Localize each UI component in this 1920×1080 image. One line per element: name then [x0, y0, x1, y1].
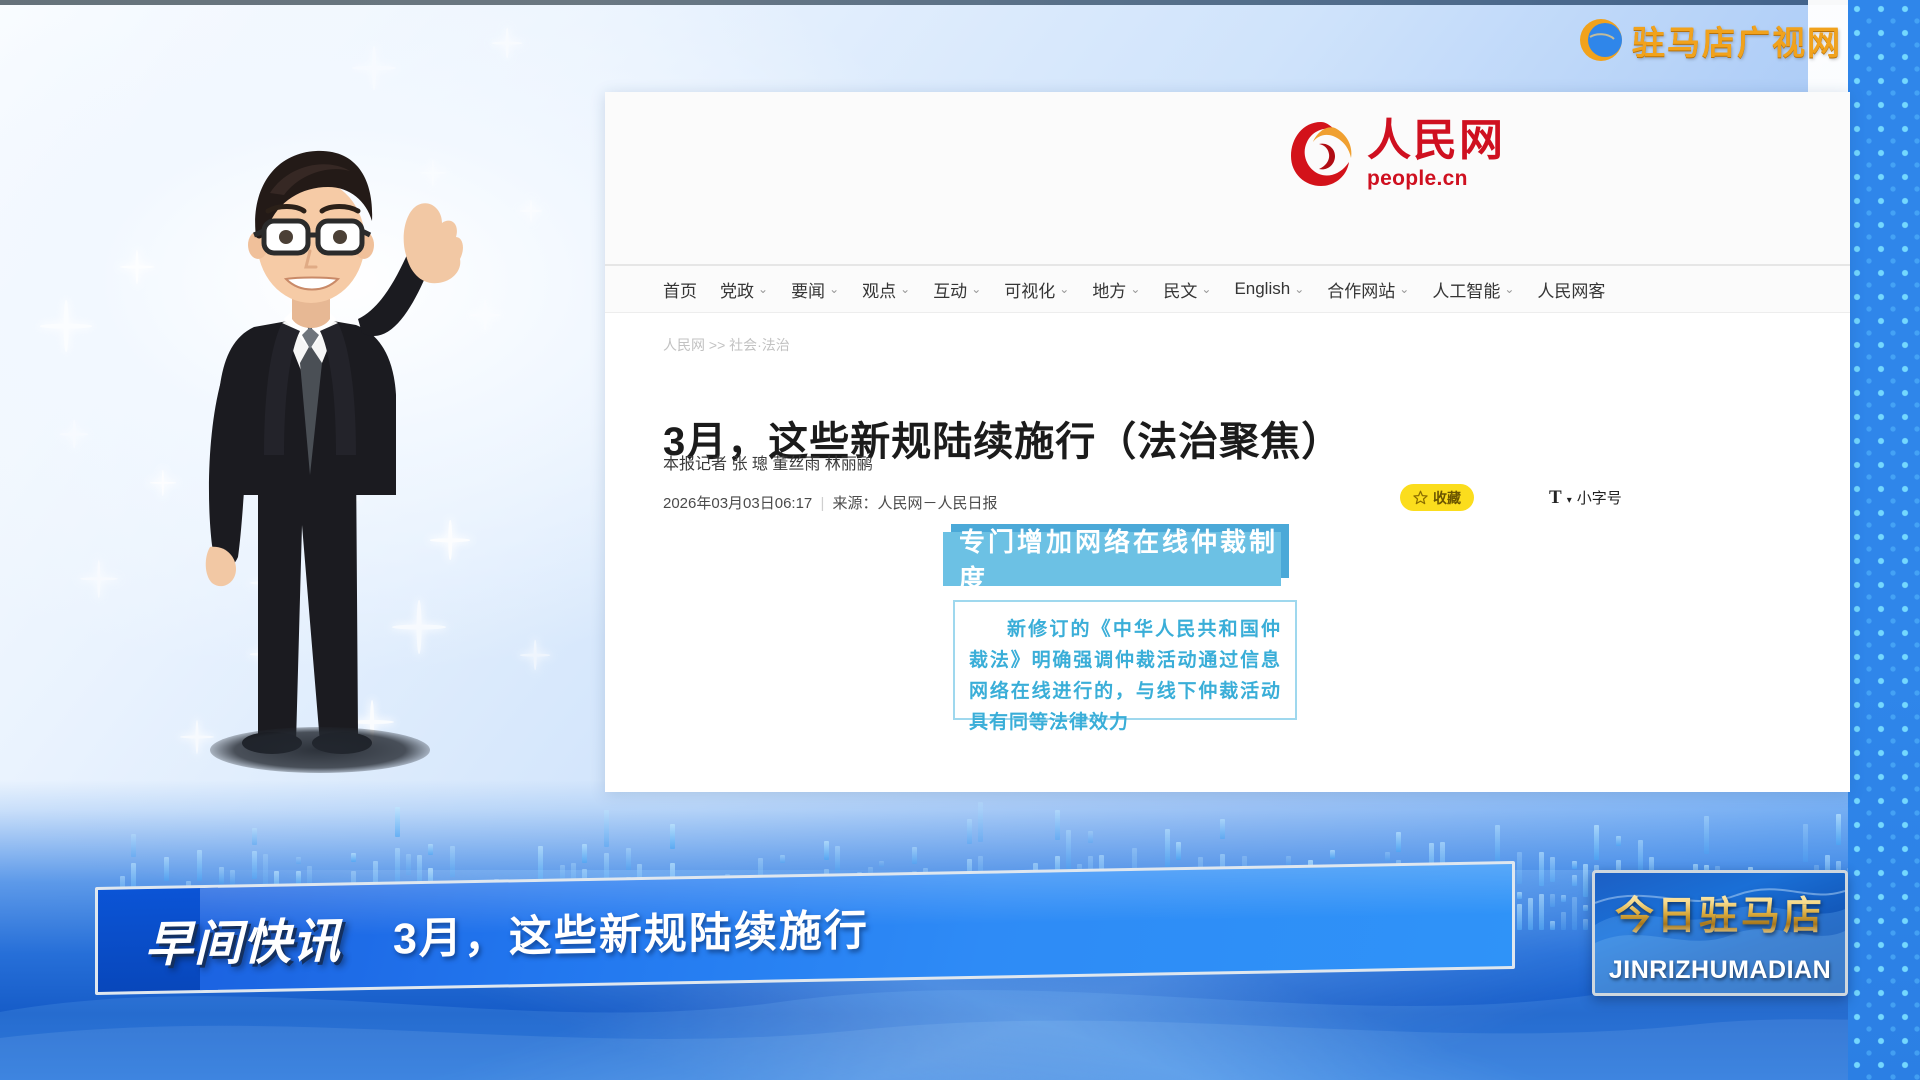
- program-badge-en: JINRIZHUMADIAN: [1595, 956, 1845, 985]
- chevron-down-icon: ▾: [1567, 495, 1572, 506]
- nav-item-8[interactable]: English⌄: [1234, 279, 1304, 299]
- site-header: 人民网 people.cn: [605, 92, 1850, 264]
- nav-item-5[interactable]: 可视化⌄: [1004, 277, 1069, 302]
- quote-text: 新修订的《中华人民共和国仲裁法》明确强调仲裁活动通过信息网络在线进行的，与线下仲…: [969, 614, 1281, 738]
- people-cn-logo[interactable]: 人民网 people.cn: [1285, 118, 1505, 190]
- favorite-label: 收藏: [1433, 488, 1461, 508]
- chevron-down-icon: ⌄: [1059, 282, 1069, 296]
- nav-item-10[interactable]: 人工智能⌄: [1432, 277, 1514, 302]
- quote-box: 新修订的《中华人民共和国仲裁法》明确强调仲裁活动通过信息网络在线进行的，与线下仲…: [953, 600, 1297, 720]
- people-cn-logo-cn: 人民网: [1367, 119, 1505, 163]
- nav-item-label: 人民网客: [1537, 277, 1605, 302]
- nav-item-label: 观点: [862, 277, 896, 302]
- nav-item-label: 党政: [720, 277, 754, 302]
- nav-item-11[interactable]: 人民网客: [1537, 277, 1605, 302]
- text-size-icon: T: [1549, 487, 1562, 509]
- chevron-down-icon: ⌄: [971, 282, 981, 296]
- chevron-down-icon: ⌄: [758, 282, 768, 296]
- nav-item-label: 首页: [663, 277, 697, 302]
- article-byline: 本报记者 张 璁 董丝雨 林丽鹂: [663, 450, 873, 474]
- station-logo-text: 驻马店广视网: [1632, 16, 1842, 64]
- lower-third-title: 3月，这些新规陆续施行: [393, 896, 869, 967]
- highlight-banner: 专门增加网络在线仲裁制度: [943, 524, 1289, 586]
- article-datetime: 2026年03月03日06:17: [663, 495, 812, 512]
- chevron-down-icon: ⌄: [1201, 282, 1211, 296]
- right-dot-panel: [1848, 0, 1920, 1080]
- people-cn-mark-icon: [1285, 118, 1357, 190]
- font-size-button[interactable]: T ▾ 小字号: [1545, 484, 1626, 511]
- station-logo: 驻马店广视网: [1578, 16, 1842, 64]
- station-globe-icon: [1578, 17, 1624, 63]
- breadcrumb[interactable]: 人民网 >> 社会·法治: [663, 335, 790, 355]
- highlight-banner-text: 专门增加网络在线仲裁制度: [959, 522, 1281, 596]
- nav-item-label: 互动: [933, 277, 967, 302]
- nav-item-3[interactable]: 观点⌄: [862, 277, 910, 302]
- nav-item-6[interactable]: 地方⌄: [1092, 277, 1140, 302]
- chevron-down-icon: ⌄: [829, 282, 839, 296]
- article-meta: 2026年03月03日06:17 | 来源：人民网－人民日报: [663, 492, 998, 513]
- favorite-button[interactable]: 收藏: [1400, 484, 1474, 511]
- nav-item-label: 合作网站: [1327, 277, 1395, 302]
- broadcast-screen: 人民网 people.cn 首页党政⌄要闻⌄观点⌄互动⌄可视化⌄地方⌄民文⌄En…: [0, 0, 1920, 1080]
- people-cn-logo-en: people.cn: [1367, 168, 1468, 189]
- star-icon: [1413, 490, 1428, 505]
- nav-item-label: 要闻: [791, 277, 825, 302]
- nav-item-1[interactable]: 党政⌄: [720, 277, 768, 302]
- nav-bottom-divider: [605, 312, 1850, 313]
- program-badge-cn: 今日驻马店: [1595, 885, 1845, 941]
- nav-item-9[interactable]: 合作网站⌄: [1327, 277, 1409, 302]
- font-size-label: 小字号: [1577, 487, 1622, 508]
- chevron-down-icon: ⌄: [1130, 282, 1140, 296]
- nav-item-label: 可视化: [1004, 277, 1055, 302]
- chevron-down-icon: ⌄: [1504, 282, 1514, 296]
- chevron-down-icon: ⌄: [1294, 282, 1304, 296]
- lower-third-kicker: 早间快讯: [145, 902, 341, 976]
- presenter-character: [150, 95, 480, 795]
- nav-item-label: 民文: [1163, 277, 1197, 302]
- program-badge: 今日驻马店 JINRIZHUMADIAN: [1592, 870, 1848, 996]
- article-source: 来源：人民网－人民日报: [833, 495, 998, 512]
- nav-item-4[interactable]: 互动⌄: [933, 277, 981, 302]
- presenter-floor-shadow: [210, 727, 430, 773]
- presenter-illustration: [150, 95, 480, 795]
- meta-separator: |: [820, 495, 824, 512]
- nav-item-7[interactable]: 民文⌄: [1163, 277, 1211, 302]
- nav-item-0[interactable]: 首页: [663, 277, 697, 302]
- site-navbar[interactable]: 首页党政⌄要闻⌄观点⌄互动⌄可视化⌄地方⌄民文⌄English⌄合作网站⌄人工智…: [605, 266, 1850, 312]
- nav-item-2[interactable]: 要闻⌄: [791, 277, 839, 302]
- top-edge-strip: [0, 0, 1920, 5]
- chevron-down-icon: ⌄: [900, 282, 910, 296]
- nav-item-label: 地方: [1092, 277, 1126, 302]
- article-panel: 人民网 people.cn 首页党政⌄要闻⌄观点⌄互动⌄可视化⌄地方⌄民文⌄En…: [605, 92, 1850, 792]
- nav-item-label: 人工智能: [1432, 277, 1500, 302]
- chevron-down-icon: ⌄: [1399, 282, 1409, 296]
- nav-item-label: English: [1234, 279, 1290, 299]
